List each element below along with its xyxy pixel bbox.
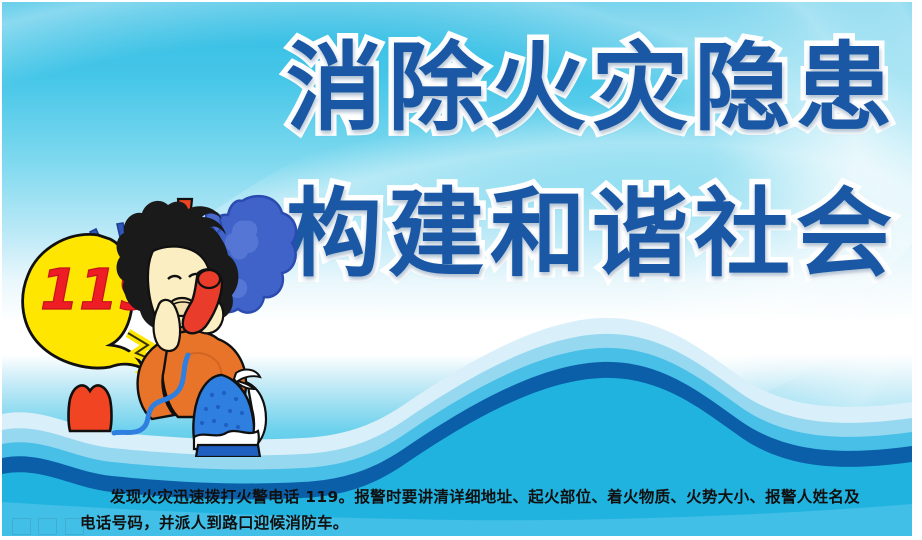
watermark-box (65, 518, 84, 535)
cartoon-illustration: 119 (10, 187, 310, 457)
watermark (12, 518, 192, 536)
forearm-shape (154, 300, 181, 351)
shoe-shape (196, 445, 260, 457)
safety-instruction-text: 发现火灾迅速拨打火警电话 119。报警时要讲清详细地址、起火部位、着火物质、火势… (80, 484, 860, 536)
headline-line-2: 构建和谐社会 (286, 184, 898, 284)
fire-hydrant-icon (69, 385, 112, 431)
headline-line-1: 消除火灾隐患 (286, 38, 898, 138)
fire-safety-poster: 消除火灾隐患 构建和谐社会 (0, 0, 922, 540)
watermark-box (38, 518, 57, 535)
watermark-box (12, 518, 31, 535)
poster-background: 消除火灾隐患 构建和谐社会 (2, 2, 912, 536)
